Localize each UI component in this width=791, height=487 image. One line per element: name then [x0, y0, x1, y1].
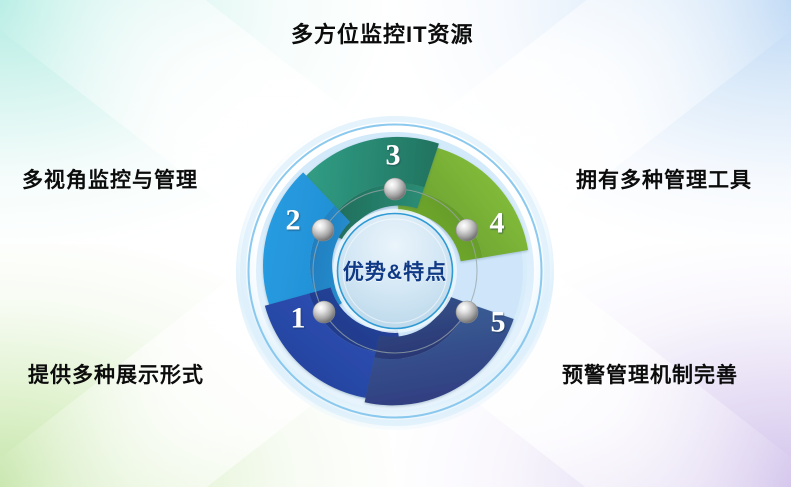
label-right-top: 拥有多种管理工具 — [576, 168, 752, 193]
segment-2-number: 2 — [286, 204, 301, 237]
segment-1-sphere-icon — [313, 301, 335, 323]
segment-3-number: 3 — [386, 139, 401, 172]
label-left-bottom: 提供多种展示形式 — [28, 363, 204, 388]
segment-4-number: 4 — [490, 207, 505, 240]
label-left-top: 多视角监控与管理 — [22, 168, 198, 193]
segment-4-sphere-icon — [456, 219, 478, 241]
hub-circle — [338, 214, 453, 329]
segment-5-sphere-icon — [456, 301, 478, 323]
label-top: 多方位监控IT资源 — [291, 22, 474, 48]
label-right-bottom: 预警管理机制完善 — [562, 363, 738, 388]
segment-2-sphere-icon — [312, 219, 334, 241]
segment-5-number: 5 — [491, 306, 506, 339]
segment-1-number: 1 — [291, 302, 306, 335]
infographic-canvas: 多方位监控IT资源 多视角监控与管理 提供多种展示形式 拥有多种管理工具 预警管… — [0, 0, 791, 487]
segment-3-sphere-icon — [384, 178, 406, 200]
circular-diagram: 1 2 3 4 5 优势&特点 — [236, 112, 554, 430]
